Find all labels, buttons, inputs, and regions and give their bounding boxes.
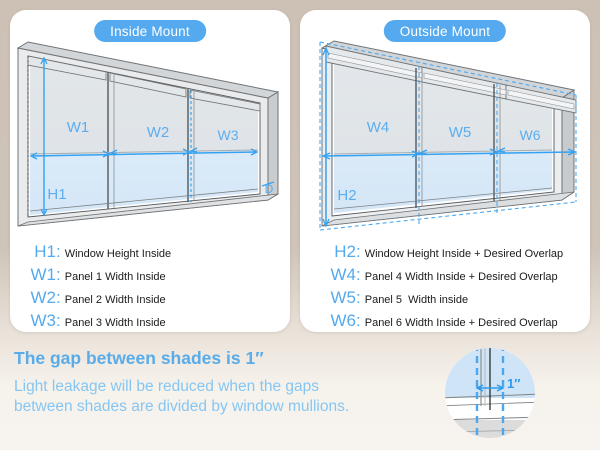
label-w4: W4: [367, 119, 390, 136]
outside-mount-diagram: W4 W5 W6 H2: [300, 10, 590, 240]
legend-colon: :: [356, 288, 361, 308]
gap-note-line: between shades are divided by window mul…: [14, 397, 444, 417]
gap-detail-circle: 1″: [437, 340, 543, 446]
legend-key: H1: [22, 242, 56, 262]
legend-value: Panel 2 Width Inside: [65, 294, 166, 306]
legend-colon: :: [56, 311, 61, 331]
legend-value: Panel 5 Width inside: [365, 294, 468, 306]
legend-value: Panel 3 Width Inside: [65, 317, 166, 329]
legend-value: Panel 4 Width Inside + Desired Overlap: [365, 271, 558, 283]
legend-key: W2: [22, 288, 56, 308]
legend-item: W5 : Panel 5 Width inside: [316, 288, 580, 308]
gap-note-title: The gap between shades is 1″: [14, 348, 444, 369]
legend-key: H2: [316, 242, 356, 262]
legend-item: W6 : Panel 6 Width Inside + Desired Over…: [316, 311, 580, 331]
label-w2: W2: [147, 124, 170, 141]
gap-measure-label: 1″: [507, 376, 520, 391]
label-w1: W1: [67, 119, 90, 136]
legend-colon: :: [356, 242, 361, 262]
label-w5: W5: [449, 124, 472, 141]
legend-value: Window Height Inside: [65, 248, 171, 260]
legend-colon: :: [56, 288, 61, 308]
legend-value: Panel 1 Width Inside: [65, 271, 166, 283]
legend-key: W6: [316, 311, 356, 331]
outside-mount-legend: H2 : Window Height Inside + Desired Over…: [316, 242, 580, 334]
label-w6: W6: [520, 127, 541, 143]
legend-item: H1 : Window Height Inside: [22, 242, 280, 262]
legend-colon: :: [356, 311, 361, 331]
label-h1: H1: [47, 186, 66, 203]
legend-colon: :: [56, 242, 61, 262]
legend-key: W3: [22, 311, 56, 331]
legend-item: W1 : Panel 1 Width Inside: [22, 265, 280, 285]
inside-mount-card: Inside Mount: [10, 10, 290, 332]
legend-value: Window Height Inside + Desired Overlap: [365, 248, 563, 260]
gap-note-line: Light leakage will be reduced when the g…: [14, 377, 444, 397]
legend-key: W5: [316, 288, 356, 308]
legend-item: W2 : Panel 2 Width Inside: [22, 288, 280, 308]
legend-item: W4 : Panel 4 Width Inside + Desired Over…: [316, 265, 580, 285]
stage: Inside Mount: [0, 0, 600, 450]
label-w3: W3: [218, 127, 239, 143]
outside-mount-card: Outside Mount: [300, 10, 590, 332]
legend-key: W1: [22, 265, 56, 285]
legend-key: W4: [316, 265, 356, 285]
legend-item: W3 : Panel 3 Width Inside: [22, 311, 280, 331]
label-h2: H2: [337, 187, 356, 204]
legend-colon: :: [56, 265, 61, 285]
gap-note: The gap between shades is 1″ Light leaka…: [14, 348, 444, 417]
inside-mount-legend: H1 : Window Height Inside W1 : Panel 1 W…: [22, 242, 280, 334]
inside-mount-diagram: W1 W2 W3 H1 D: [10, 10, 290, 240]
label-d: D: [265, 182, 274, 196]
legend-colon: :: [356, 265, 361, 285]
legend-item: H2 : Window Height Inside + Desired Over…: [316, 242, 580, 262]
legend-value: Panel 6 Width Inside + Desired Overlap: [365, 317, 558, 329]
